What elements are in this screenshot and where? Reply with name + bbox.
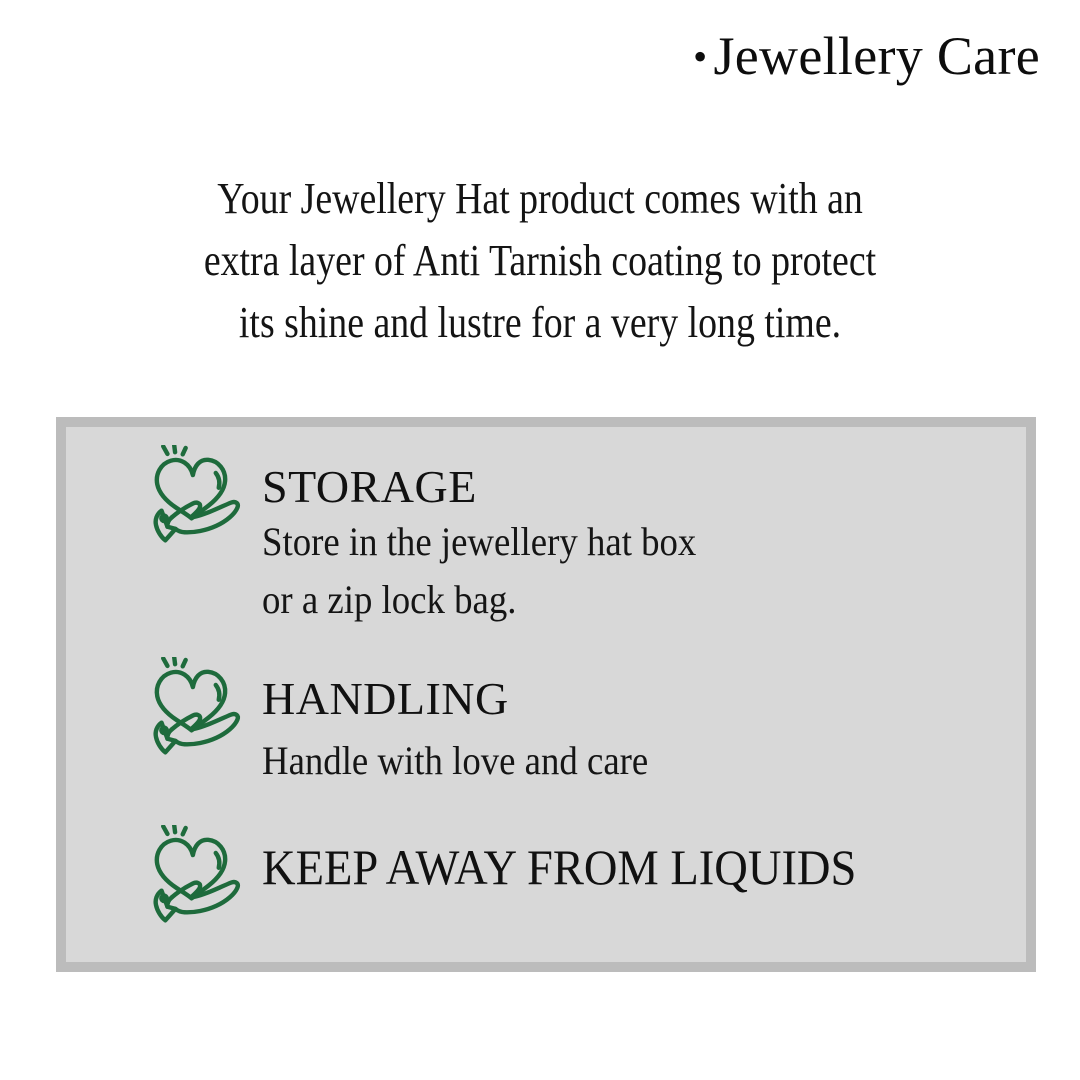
page-title: •Jewellery Care: [693, 28, 1040, 85]
page-title-row: •Jewellery Care: [0, 28, 1040, 85]
care-item-text: KEEP AWAY FROM LIQUIDS: [262, 825, 901, 893]
care-item-description-line-1: Handle with love and care: [262, 731, 648, 791]
care-item-description: Handle with love and care: [262, 731, 648, 791]
bullet-icon: •: [693, 34, 713, 79]
intro-line-2: extra layer of Anti Tarnish coating to p…: [136, 230, 944, 292]
heart-in-hand-icon: [144, 445, 246, 545]
care-item-description-line-2: or a zip lock bag.: [262, 571, 696, 629]
care-item-text: HANDLING Handle with love and care: [262, 657, 682, 791]
care-item-keep-away-from-liquids: KEEP AWAY FROM LIQUIDS: [144, 825, 901, 925]
care-item-description-line-1: Store in the jewellery hat box: [262, 513, 696, 571]
page-title-text: Jewellery Care: [713, 26, 1040, 86]
care-item-text: STORAGE Store in the jewellery hat box o…: [262, 445, 734, 629]
jewellery-care-page: •Jewellery Care Your Jewellery Hat produ…: [0, 0, 1080, 1080]
care-item-description: Store in the jewellery hat box or a zip …: [262, 513, 696, 629]
intro-paragraph: Your Jewellery Hat product comes with an…: [136, 168, 944, 354]
care-instructions-panel: STORAGE Store in the jewellery hat box o…: [56, 417, 1036, 972]
care-item-storage: STORAGE Store in the jewellery hat box o…: [144, 445, 734, 629]
care-item-handling: HANDLING Handle with love and care: [144, 657, 682, 791]
care-item-heading: STORAGE: [262, 461, 734, 513]
care-item-heading: HANDLING: [262, 673, 682, 725]
heart-in-hand-icon: [144, 657, 246, 757]
care-item-heading: KEEP AWAY FROM LIQUIDS: [262, 841, 856, 893]
intro-line-3: its shine and lustre for a very long tim…: [136, 292, 944, 354]
intro-line-1: Your Jewellery Hat product comes with an: [136, 168, 944, 230]
heart-in-hand-icon: [144, 825, 246, 925]
care-instructions-list: STORAGE Store in the jewellery hat box o…: [66, 427, 1026, 962]
